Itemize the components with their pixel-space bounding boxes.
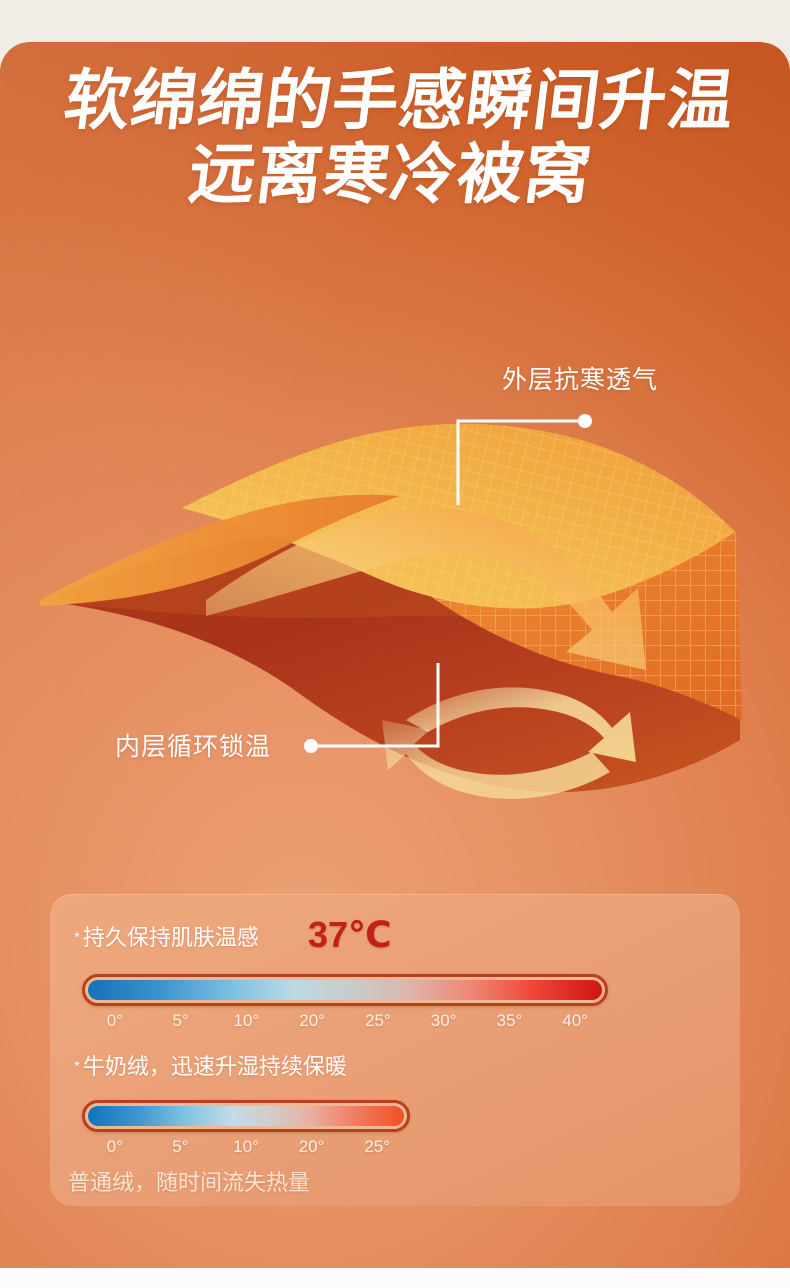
tick-label: 5°	[148, 1136, 214, 1158]
bullet-star-1: *	[74, 929, 80, 946]
row2-label: *牛奶绒，迅速升湿持续保暖	[74, 1054, 347, 1080]
bottom-white-band	[0, 1268, 790, 1288]
headline-line-2: 远离寒冷被窝	[0, 137, 790, 211]
temperature-value: 37℃	[308, 915, 392, 955]
bullet-star-2: *	[74, 1058, 80, 1075]
tick-label: 30°	[411, 1010, 477, 1032]
row2-label-text: 牛奶绒，迅速升湿持续保暖	[83, 1054, 347, 1079]
tick-label: 35°	[477, 1010, 543, 1032]
tick-label: 0°	[82, 1010, 148, 1032]
card-caption: 普通绒，随时间流失热量	[68, 1170, 310, 1196]
page-title: 软绵绵的手感瞬间升温 远离寒冷被窝	[0, 63, 790, 211]
temperature-bar-short	[82, 1100, 410, 1132]
tick-label: 20°	[279, 1136, 345, 1158]
tick-label: 5°	[148, 1010, 214, 1032]
product-detail-page: 软绵绵的手感瞬间升温 远离寒冷被窝	[0, 0, 790, 1288]
row1-label-text: 持久保持肌肤温感	[83, 925, 259, 950]
tick-label: 0°	[82, 1136, 148, 1158]
tick-label: 25°	[345, 1010, 411, 1032]
row1-label: *持久保持肌肤温感	[74, 925, 259, 951]
tick-label: 25°	[344, 1136, 410, 1158]
temperature-ticks-short: 0° 5° 10° 20° 25°	[82, 1136, 410, 1158]
headline-line-1: 软绵绵的手感瞬间升温	[60, 63, 739, 137]
callout-label-outer: 外层抗寒透气	[502, 365, 658, 395]
callout-dot-inner	[304, 739, 318, 753]
callout-dot-outer	[578, 414, 592, 428]
tick-label: 10°	[214, 1010, 280, 1032]
temperature-bar-short-fill	[88, 1106, 404, 1126]
tick-label: 40°	[542, 1010, 608, 1032]
top-cream-band	[0, 0, 790, 46]
tick-label: 20°	[279, 1010, 345, 1032]
temperature-bar-long-fill	[88, 980, 602, 1000]
temperature-bar-long	[82, 974, 608, 1006]
temperature-ticks-long: 0° 5° 10° 20° 25° 30° 35° 40°	[82, 1010, 608, 1032]
tick-label: 10°	[213, 1136, 279, 1158]
callout-label-inner: 内层循环锁温	[115, 732, 271, 762]
